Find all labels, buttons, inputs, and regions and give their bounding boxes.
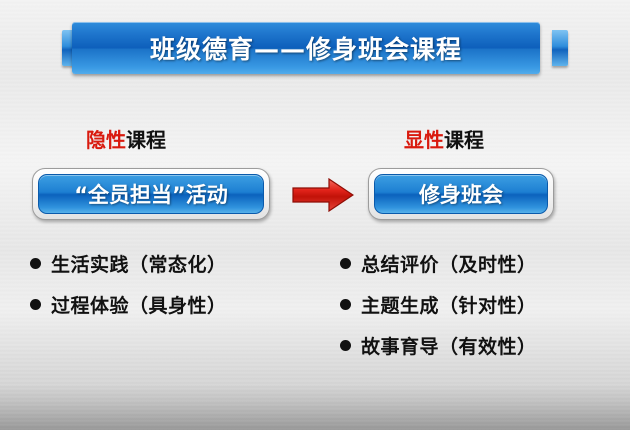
- right-bullet-list: 总结评价（及时性） 主题生成（针对性） 故事育导（有效性）: [340, 250, 537, 373]
- list-item: 生活实践（常态化）: [30, 250, 227, 277]
- left-heading-highlight: 隐性: [86, 128, 126, 152]
- list-item-label: 主题生成（针对性）: [361, 291, 537, 318]
- left-blue-box: “全员担当”活动: [32, 168, 270, 220]
- list-item-label: 生活实践（常态化）: [51, 250, 227, 277]
- right-blue-box-label: 修身班会: [419, 179, 503, 209]
- bullet-dot-icon: [340, 340, 351, 351]
- left-heading-rest: 课程: [126, 128, 166, 152]
- bullet-dot-icon: [30, 299, 41, 310]
- list-item: 总结评价（及时性）: [340, 250, 537, 277]
- bullet-dot-icon: [340, 258, 351, 269]
- right-heading-highlight: 显性: [404, 128, 444, 152]
- list-item-label: 总结评价（及时性）: [361, 250, 537, 277]
- left-bullet-list: 生活实践（常态化） 过程体验（具身性）: [30, 250, 227, 332]
- slide-canvas: 班级德育——修身班会课程 隐性课程 显性课程 “全员担当”活动: [0, 0, 630, 430]
- list-item: 故事育导（有效性）: [340, 332, 537, 359]
- right-blue-box-inner: 修身班会: [374, 174, 548, 214]
- slide-title: 班级德育——修身班会课程: [72, 22, 540, 74]
- right-blue-box: 修身班会: [368, 168, 554, 220]
- bullet-dot-icon: [340, 299, 351, 310]
- right-heading-rest: 课程: [444, 128, 484, 152]
- bullet-dot-icon: [30, 258, 41, 269]
- list-item: 主题生成（针对性）: [340, 291, 537, 318]
- left-blue-box-label: “全员担当”活动: [74, 179, 228, 209]
- right-column-heading: 显性课程: [404, 124, 484, 153]
- red-right-arrow-icon: [292, 178, 354, 212]
- title-banner: 班级德育——修身班会课程: [72, 22, 540, 74]
- title-banner-right-flange: [552, 30, 568, 66]
- left-blue-box-inner: “全员担当”活动: [38, 174, 264, 214]
- list-item: 过程体验（具身性）: [30, 291, 227, 318]
- list-item-label: 过程体验（具身性）: [51, 291, 227, 318]
- list-item-label: 故事育导（有效性）: [361, 332, 537, 359]
- left-column-heading: 隐性课程: [86, 124, 166, 153]
